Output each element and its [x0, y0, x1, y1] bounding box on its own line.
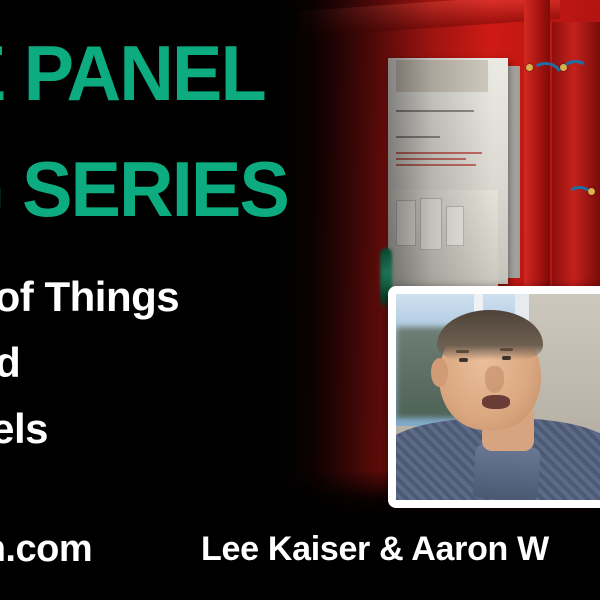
speaker-ear: [431, 358, 448, 387]
speaker-mouth: [482, 395, 510, 409]
subtitle-line-2: nd: [0, 342, 20, 384]
speaker-collar: [472, 444, 540, 500]
headline-line-2: G SERIES: [0, 150, 288, 228]
speaker-eye-right: [502, 356, 511, 360]
subtitle-line-3: nels: [0, 408, 48, 450]
speaker-nose: [485, 366, 504, 393]
presenter-names: Lee Kaiser & Aaron W: [201, 530, 549, 569]
speaker-eye-left: [459, 358, 468, 362]
speaker-webcam-video: [396, 294, 600, 500]
headline-line-1: E PANEL: [0, 34, 265, 112]
speaker-eyebrow-right: [500, 348, 513, 351]
brand-url: on.com: [0, 528, 92, 571]
speaker-eyebrow-left: [456, 350, 469, 353]
speaker-webcam-inset[interactable]: [388, 286, 600, 508]
title-card: E PANEL G SERIES t of Things nd nels y o…: [0, 0, 600, 600]
subtitle-line-1: t of Things: [0, 276, 179, 318]
